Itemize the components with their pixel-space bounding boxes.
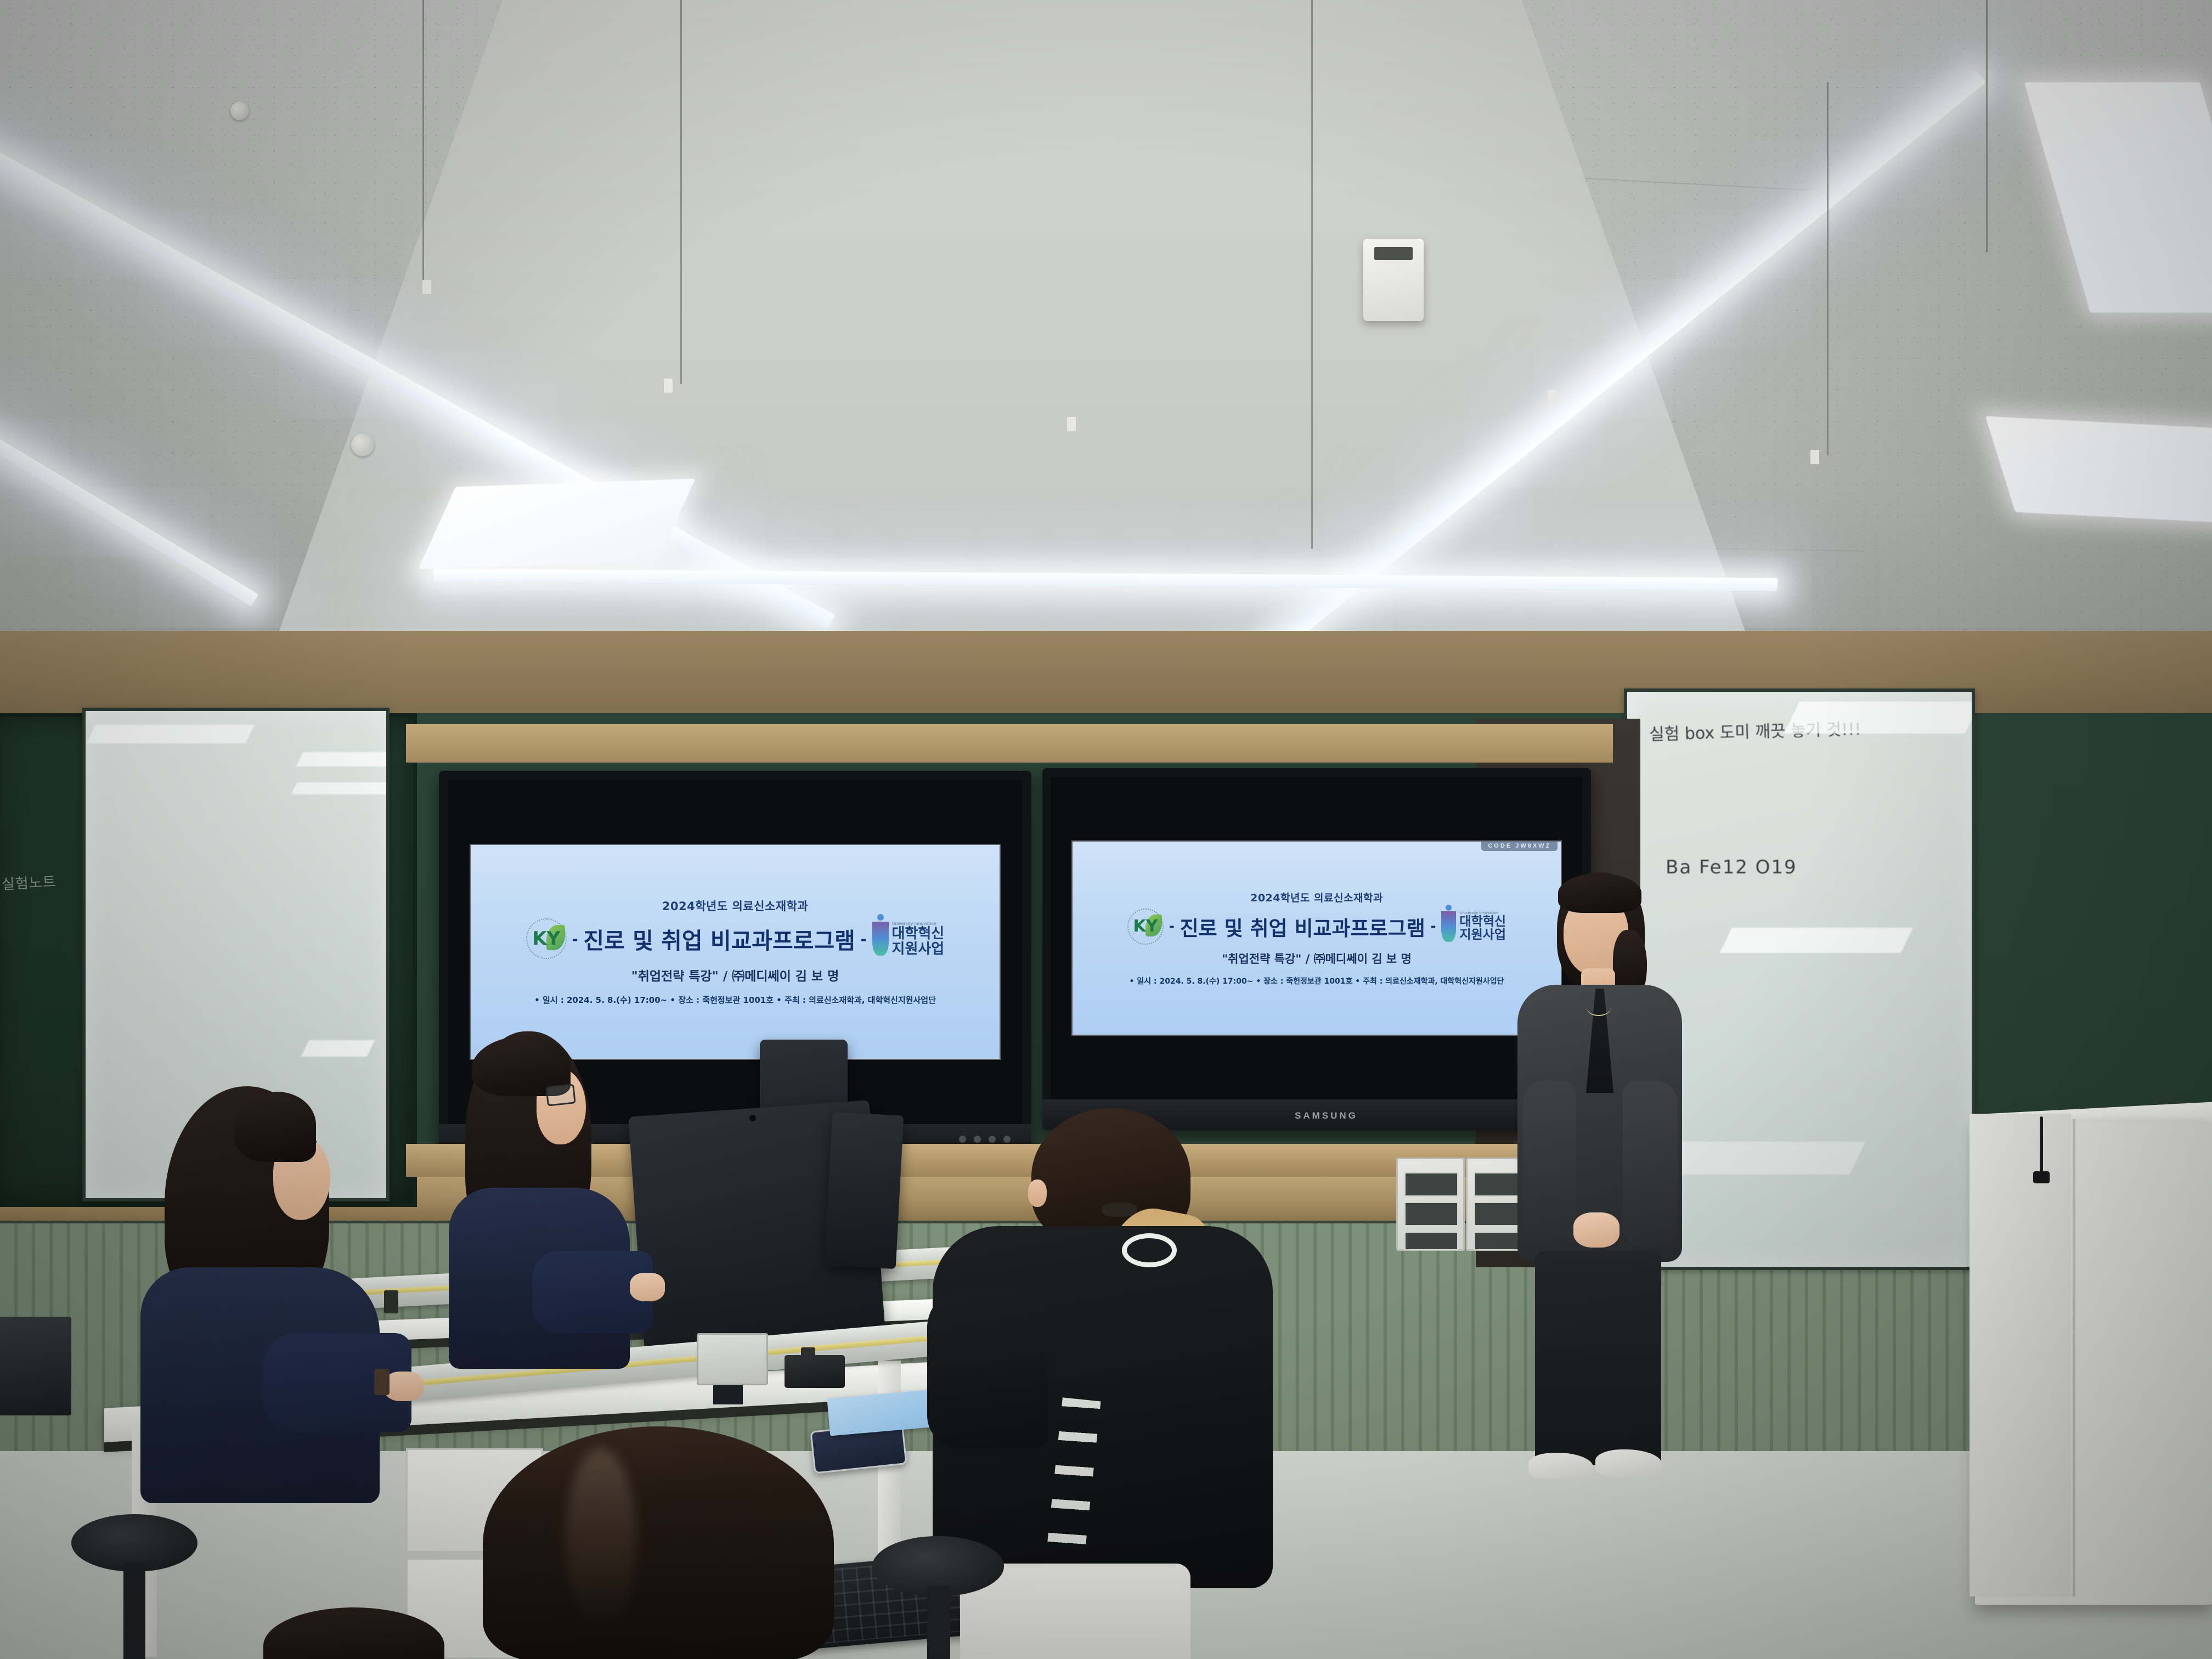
uni-logo-u-icon xyxy=(872,922,889,956)
ceiling-hanger-clip xyxy=(422,280,431,294)
person-foreground-head-partial xyxy=(263,1607,444,1659)
uni-logo-line2: 지원사업 xyxy=(892,941,945,957)
slide-footer: • 일시 : 2024. 5. 8.(수) 17:00~ • 장소 : 죽헌정보… xyxy=(534,994,936,1006)
person-student-foreground xyxy=(483,1426,878,1659)
ceiling-hanger-wire xyxy=(680,0,682,384)
uni-logo-dot-icon xyxy=(877,914,884,921)
whiteboard-glare xyxy=(296,752,390,766)
slide-title: 진로 및 취업 비교과프로그램 xyxy=(1180,912,1425,941)
power-socket-box[interactable] xyxy=(697,1333,768,1385)
ky-logo-text: KY xyxy=(533,926,559,952)
slide-dash-right: - xyxy=(1431,917,1436,935)
presenter-hands xyxy=(1573,1212,1620,1248)
whiteboard-glare xyxy=(1720,928,1913,953)
uni-logo-u-icon xyxy=(1441,911,1456,942)
ceiling-hanger-wire xyxy=(1311,0,1313,549)
presenter-arm-left xyxy=(1523,1081,1576,1245)
ceiling-hanger-clip xyxy=(664,379,673,393)
presenter-necklace xyxy=(1587,1000,1611,1016)
person-student-left xyxy=(126,1086,422,1580)
classroom-photo: 내실험노트 실험 box 도미 깨끗 놓기 것!!! Ba Fe12 O19 2… xyxy=(0,0,2212,1659)
whiteboard-glare xyxy=(291,782,390,794)
ceiling-hanger-clip xyxy=(1067,417,1076,431)
ceiling-hanger-wire xyxy=(1827,82,1829,455)
student-left-hand xyxy=(384,1372,424,1401)
whiteboard-glare xyxy=(1784,702,1975,733)
uni-logo-dot-icon xyxy=(1446,905,1452,911)
slide-code-badge: CODE JW8XWZ xyxy=(1481,841,1558,851)
monitor-front-camera-icon xyxy=(749,1115,756,1122)
display-right-screen: CODE JW8XWZ 2024학년도 의료신소재학과 KY - 진로 및 취업… xyxy=(1051,777,1582,1099)
student-right-jacket-logo xyxy=(1122,1233,1177,1267)
person-student-middle xyxy=(439,1031,669,1426)
student-left-hair-fringe xyxy=(234,1092,316,1162)
student-middle-glasses-icon xyxy=(545,1084,575,1106)
university-innovation-logo: University Innovation 대학혁신 지원사업 xyxy=(1441,911,1506,943)
whiteboard-glare xyxy=(87,725,255,743)
ceiling-hanger-clip xyxy=(1810,450,1819,464)
ceiling-panel-light-left xyxy=(419,479,696,569)
student-right-arm xyxy=(927,1289,1048,1448)
equipment-box-window xyxy=(1404,1202,1458,1226)
white-cabinet-seam xyxy=(2073,1119,2075,1596)
white-cabinet-side-panel xyxy=(1970,1114,2071,1596)
slide-title-row: KY - 진로 및 취업 비교과프로그램 - University Innova… xyxy=(471,918,1000,959)
lab-stool-post xyxy=(123,1564,145,1659)
slide-footer: • 일시 : 2024. 5. 8.(수) 17:00~ • 장소 : 죽헌정보… xyxy=(1130,975,1504,986)
lab-stool-post xyxy=(927,1585,950,1659)
white-cabinet-plug-icon xyxy=(2033,1171,2050,1183)
ceiling-projector-mount xyxy=(1363,239,1424,321)
slide-dash-left: - xyxy=(572,929,578,949)
ceiling-hanger-wire xyxy=(422,0,424,285)
slide-kicker: 2024학년도 의료신소재학과 xyxy=(1250,890,1383,905)
student-left-watch xyxy=(374,1369,390,1395)
slide-kicker: 2024학년도 의료신소재학과 xyxy=(662,898,808,914)
student-foreground-hair xyxy=(483,1426,834,1659)
lab-equipment-box xyxy=(1396,1158,1465,1251)
slide-dash-left: - xyxy=(1169,917,1175,935)
chalkboard-left-note: 내실험노트 xyxy=(0,871,57,894)
smoke-detector-icon xyxy=(351,433,374,456)
slide-subtitle: "취업전략 특강" / ㈜메디쎄이 김 보 명 xyxy=(631,966,839,984)
equipment-box-window xyxy=(1404,1172,1458,1197)
presenter-hair-fringe xyxy=(1558,873,1641,913)
display-wall-frame-top xyxy=(406,724,1613,763)
equipment-box-window xyxy=(1404,1232,1458,1250)
uni-logo-line2: 지원사업 xyxy=(1459,928,1506,942)
left-edge-equipment xyxy=(0,1317,71,1415)
uni-logo-line1: 대학혁신 xyxy=(1459,915,1506,929)
ceiling xyxy=(0,0,2212,647)
ky-university-logo: KY xyxy=(526,918,567,959)
presenter-trousers xyxy=(1535,1251,1661,1465)
ky-logo-text: KY xyxy=(1134,915,1157,938)
person-presenter xyxy=(1503,872,1690,1481)
power-socket-box-small[interactable] xyxy=(785,1355,845,1388)
whiteboard-glare xyxy=(301,1040,375,1057)
slide-left: 2024학년도 의료신소재학과 KY - 진로 및 취업 비교과프로그램 - xyxy=(471,845,1000,1058)
foreground-partial-hair xyxy=(263,1607,444,1659)
student-middle-hand xyxy=(630,1273,665,1301)
ceiling-panel-light-right xyxy=(1985,416,2212,525)
ky-university-logo: KY xyxy=(1127,909,1164,945)
monitor-side[interactable] xyxy=(825,1112,904,1269)
presenter-arm-right xyxy=(1623,1081,1678,1245)
slide-title: 진로 및 취업 비교과프로그램 xyxy=(583,922,855,955)
slide-dash-right: - xyxy=(861,929,867,949)
student-foreground-hair-sheen xyxy=(565,1448,636,1629)
student-right-ear xyxy=(1028,1180,1047,1207)
student-right-hairtie xyxy=(1102,1203,1137,1217)
ceiling-hanger-wire xyxy=(1986,0,1988,252)
slide-right: CODE JW8XWZ 2024학년도 의료신소재학과 KY - 진로 및 취업… xyxy=(1073,842,1561,1035)
ceiling-hanger-clip xyxy=(1547,390,1556,404)
university-innovation-logo: University Innovation 대학혁신 지원사업 xyxy=(872,921,945,957)
slide-title-row: KY - 진로 및 취업 비교과프로그램 - University Innova… xyxy=(1073,909,1561,945)
smoke-detector-icon xyxy=(230,101,249,120)
white-cabinet-cable xyxy=(2040,1116,2043,1177)
slide-subtitle: "취업전략 특강" / ㈜메디쎄이 김 보 명 xyxy=(1222,950,1412,967)
uni-logo-line1: 대학혁신 xyxy=(892,926,945,941)
